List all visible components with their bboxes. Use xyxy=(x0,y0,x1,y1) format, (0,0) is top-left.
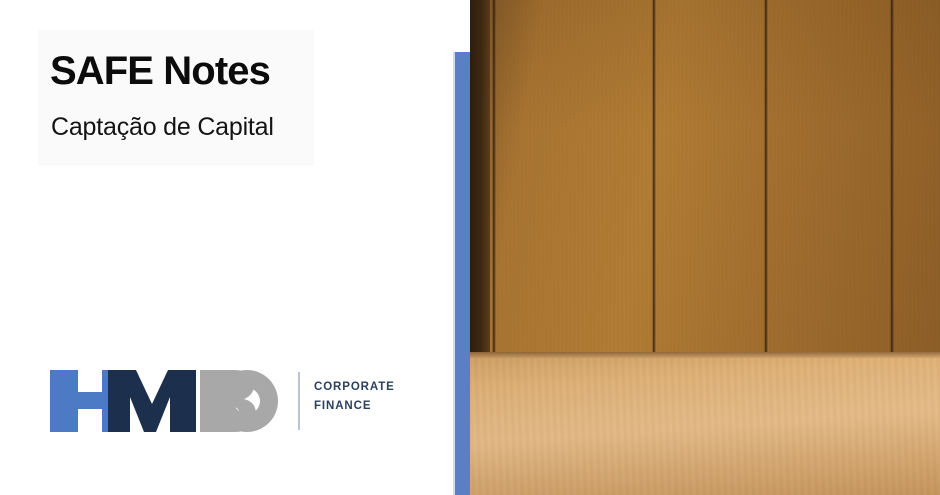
logo-tagline-line-1: CORPORATE xyxy=(314,378,395,397)
logo-tagline: CORPORATE FINANCE xyxy=(314,378,395,416)
wood-cabinet-wall xyxy=(470,0,940,352)
hmbo-logo-mark xyxy=(48,368,280,434)
cabinet-seam xyxy=(890,0,894,352)
accent-bar xyxy=(455,52,470,495)
page-subtitle: Captação de Capital xyxy=(51,113,274,142)
left-content-panel: SAFE Notes Captação de Capital CORPORAT xyxy=(0,0,470,495)
page-title: SAFE Notes xyxy=(50,50,270,92)
office-photo: CORPORATE FINANCE xyxy=(470,0,940,495)
slide-canvas: SAFE Notes Captação de Capital CORPORAT xyxy=(0,0,940,495)
cabinet-seam xyxy=(492,0,496,352)
cabinet-seam xyxy=(764,0,768,352)
hmbo-logo: CORPORATE FINANCE xyxy=(48,368,393,434)
desk-grain xyxy=(470,358,940,495)
wood-dark-edge xyxy=(470,0,490,352)
cabinet-seam xyxy=(652,0,656,352)
logo-divider xyxy=(298,372,300,430)
logo-tagline-line-2: FINANCE xyxy=(314,397,395,416)
